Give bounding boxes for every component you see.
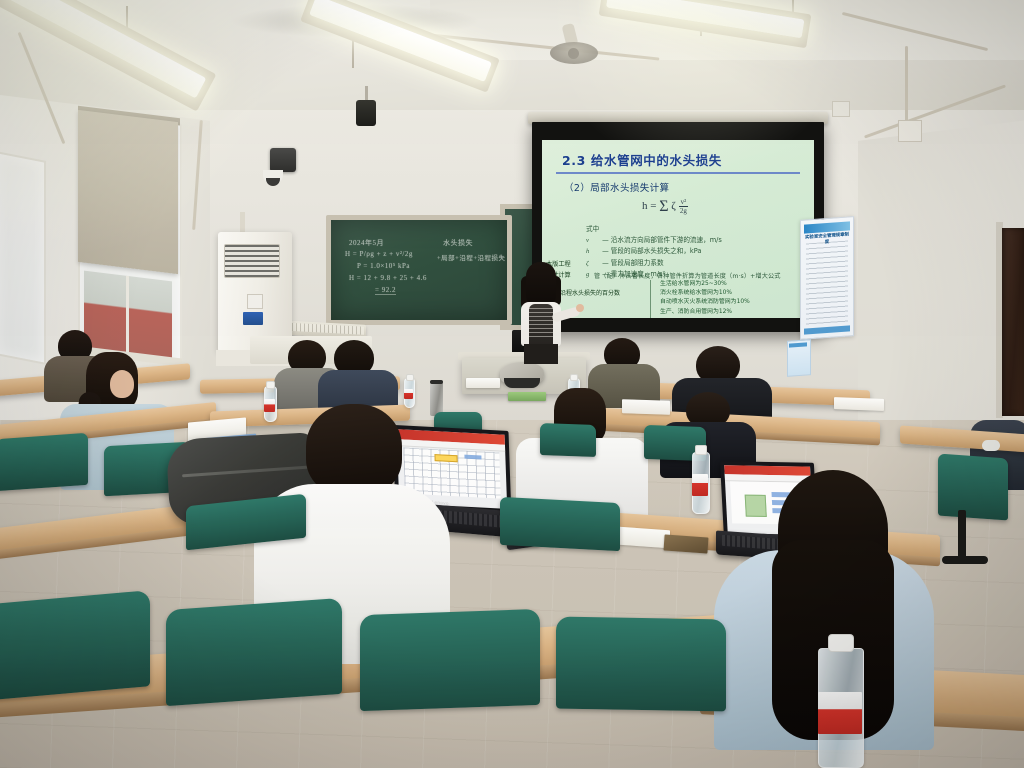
slide-equation: h = Σ ζ v² 2g	[642, 198, 688, 216]
where-text: — 沿水流方向局部管件下游的流速，m/s	[602, 236, 722, 244]
chair-mid-front-2[interactable]	[500, 497, 620, 551]
bottle-cap	[570, 374, 578, 381]
chair-front-1[interactable]	[0, 590, 150, 702]
chalk-right-line-1: 水头损失	[443, 238, 473, 248]
equation-numerator: v²	[679, 198, 689, 207]
papers-mid-right	[622, 399, 670, 415]
bottle-label	[404, 389, 413, 399]
window-mullion	[126, 276, 129, 354]
podium-bag-base	[504, 378, 540, 388]
chalk-line-2: H = P/ρg + z + v²/2g	[345, 250, 413, 258]
chalk-right-line-2: +局部+沿程+沿程损失	[437, 252, 506, 262]
bottle-front-right	[692, 452, 708, 512]
where-label-row: 式中	[586, 224, 722, 235]
equation-sum-symbol: Σ	[659, 198, 668, 215]
equation-zeta: ζ	[671, 200, 676, 212]
chair-mid-1[interactable]	[0, 433, 88, 491]
window-roller-blind[interactable]	[78, 110, 178, 274]
chair-right-leg	[958, 510, 966, 560]
where-label: 式中	[586, 225, 599, 233]
papers-back-right	[834, 397, 884, 411]
chalk-line-3: P = 1.0×10⁵ kPa	[357, 262, 410, 270]
where-symbol: v	[586, 236, 600, 247]
thermos-cap	[430, 380, 443, 384]
document-figure	[745, 494, 767, 517]
projector	[356, 100, 376, 126]
bottle-label	[264, 399, 275, 412]
bottle-cap	[406, 374, 414, 381]
where-symbol: ζ	[586, 259, 600, 270]
wall-speaker	[270, 148, 296, 172]
slide-title: 2.3 给水管网中的水头损失	[562, 150, 722, 169]
ceiling-fan	[546, 24, 602, 68]
where-item-1: h — 管段的局部水头损失之和，kPa	[586, 246, 722, 258]
head	[110, 370, 134, 398]
equation-lhs: h	[642, 200, 648, 212]
where-item-0: v — 沿水流方向局部管件下游的流速，m/s	[586, 235, 722, 247]
wall-socket-box	[832, 101, 850, 117]
bottle-cap	[828, 634, 854, 652]
book-green	[508, 392, 546, 401]
slide-bullet-2: 自动喷水灭火系统消防管网为10%	[660, 298, 750, 307]
slide-bullet-1: 消火栓系统给水管网为10%	[660, 289, 750, 298]
lecturer	[508, 262, 576, 364]
where-text: — 管段局部阻力系数	[602, 259, 663, 267]
where-symbol: h	[586, 247, 600, 258]
poster-footer-bar	[804, 325, 850, 334]
slide-subtitle: （2）局部水头损失计算	[564, 180, 669, 194]
chair-mid-3[interactable]	[540, 423, 596, 457]
slide-note: 管（配）件占管长度，各种管件折算为管道长度（m·s）+增大公式	[594, 271, 781, 280]
classroom-photo: 2024年5月 H = P/ρg + z + v²/2g P = 1.0×10⁵…	[0, 0, 1024, 768]
thermos-flask	[430, 382, 443, 416]
chair-front-2[interactable]	[166, 598, 342, 706]
where-text: — 管段的局部水头损失之和，kPa	[602, 247, 701, 255]
slide-bullet-3: 生产、消防合用管网为12%	[660, 308, 750, 317]
slide-divider	[556, 172, 800, 174]
cell-highlight	[434, 454, 458, 462]
chair-front-3[interactable]	[360, 609, 540, 711]
bottle-cap	[695, 445, 707, 455]
fan-hub	[568, 48, 579, 59]
ac-badge-label	[243, 312, 263, 325]
lecturer-skirt	[524, 344, 558, 364]
equation-fraction: v² 2g	[679, 198, 689, 215]
chalk-line-4: H = 12 + 9.8 + 25 + 4.6	[349, 274, 427, 282]
ac-vent-grille	[224, 244, 280, 278]
lecturer-hand	[576, 304, 584, 312]
bottle-back-center	[404, 378, 413, 406]
ac-display-panel	[247, 294, 263, 309]
slide-bullet-0: 生活给水管网为25~30%	[660, 280, 750, 289]
papers-back-center	[466, 378, 500, 388]
lecturer-hair	[526, 262, 556, 306]
classroom-door[interactable]	[1002, 228, 1024, 416]
chair-right-base	[942, 556, 988, 564]
chalk-line-5: = 92.2	[375, 286, 396, 295]
head	[306, 404, 402, 496]
equation-equals: =	[650, 200, 656, 212]
chair-front-4[interactable]	[556, 617, 726, 712]
where-item-2: ζ — 管段局部阻力系数	[586, 258, 722, 270]
poster-text-lines	[806, 241, 848, 326]
wallet-brown	[663, 534, 708, 553]
slide-bullets: 生活给水管网为25~30% 消火栓系统给水管网为10% 自动喷水灭火系统消防管网…	[660, 280, 750, 317]
slide: 2.3 给水管网中的水头损失 （2）局部水头损失计算 h = Σ ζ v² 2g…	[542, 140, 814, 318]
wall-poster: 实验室安全管理规章制度	[800, 216, 854, 340]
bottle-cap	[266, 381, 275, 389]
lecturer-vest-stripes	[529, 308, 553, 338]
bottle-foreground	[818, 648, 862, 766]
bottle-label	[818, 692, 862, 734]
bottle-label	[692, 474, 708, 496]
chair-right-side[interactable]	[938, 454, 1008, 521]
equation-denominator: 2g	[680, 207, 687, 215]
chalk-line-1: 2024年5月	[349, 238, 384, 248]
bottle-mid-left	[264, 386, 275, 420]
computer-mouse[interactable]	[982, 440, 1000, 451]
blackboard: 2024年5月 H = P/ρg + z + v²/2g P = 1.0×10⁵…	[326, 215, 512, 325]
window-far-left	[0, 151, 46, 365]
wall-junction-box	[898, 120, 922, 142]
